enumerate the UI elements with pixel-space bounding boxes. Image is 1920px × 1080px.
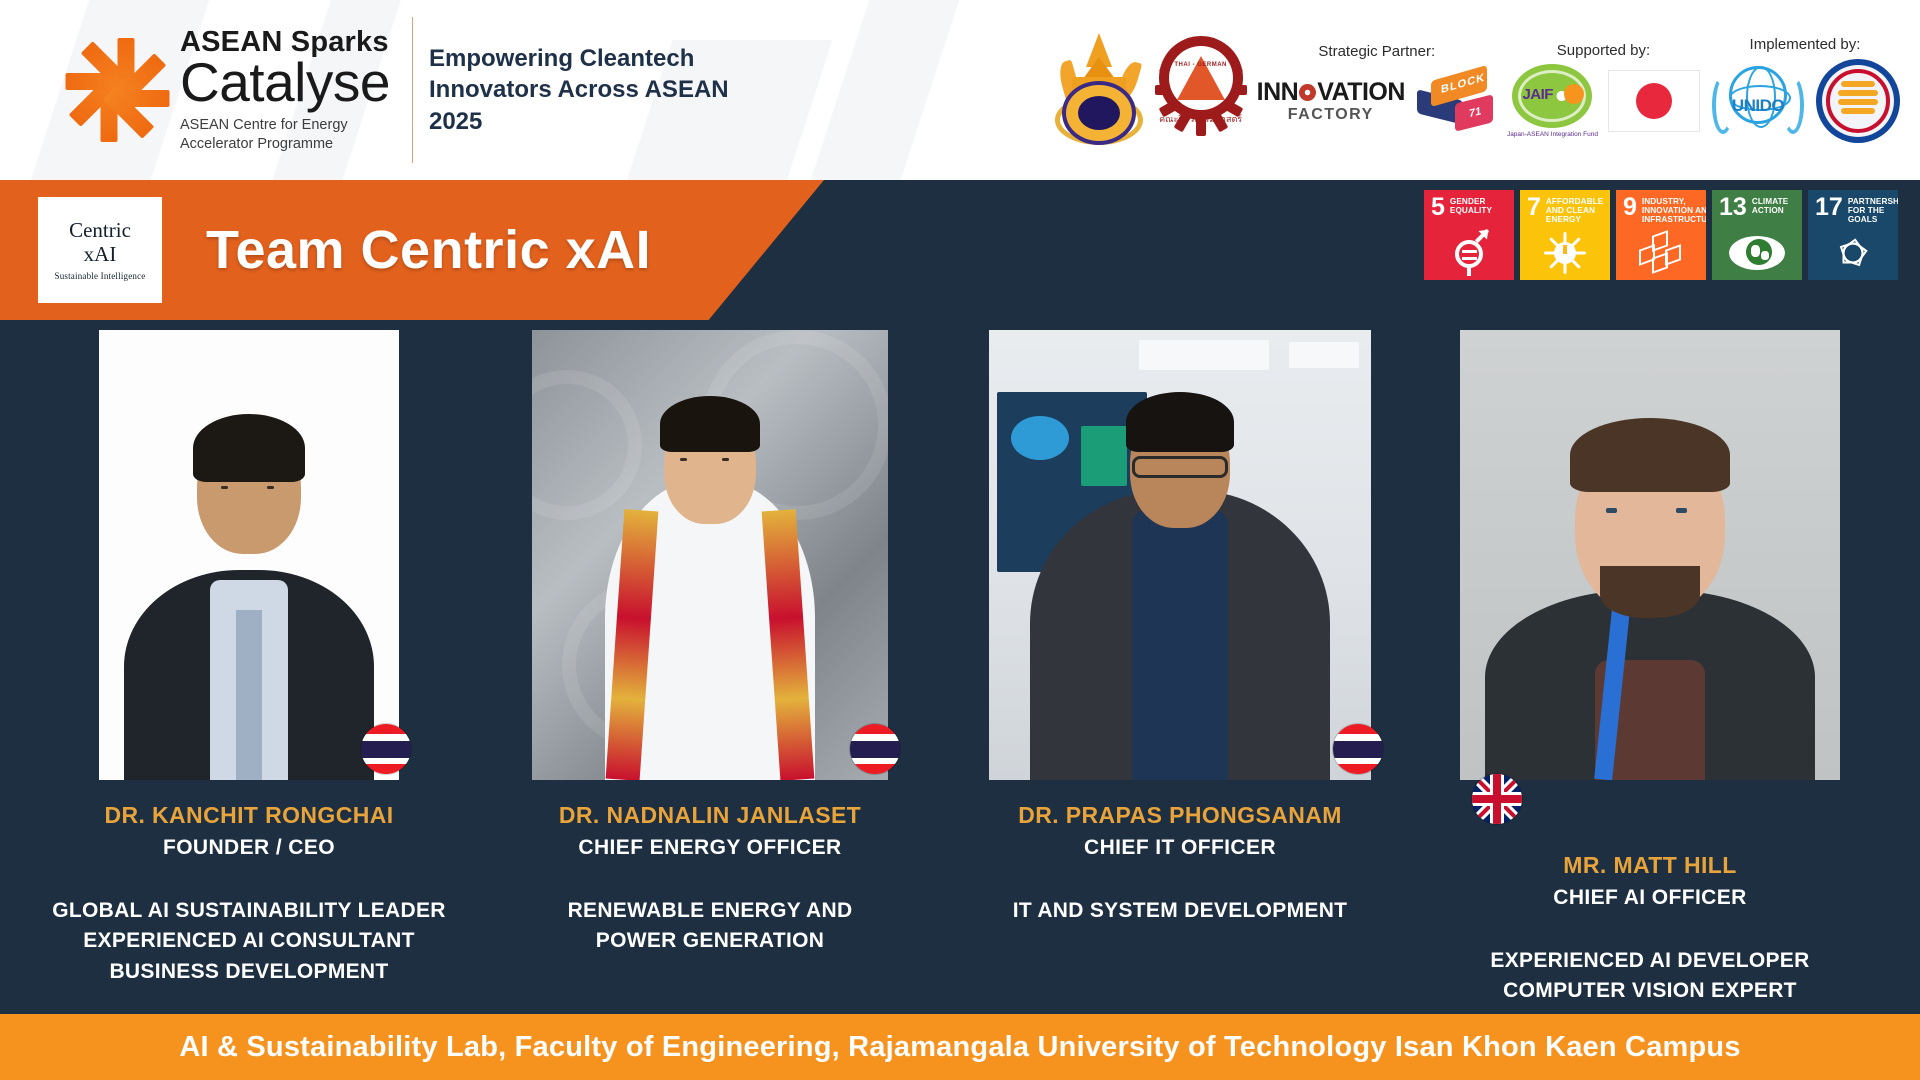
member-photo (99, 330, 399, 780)
team-member-card: DR. PRAPAS PHONGSANAM CHIEF IT OFFICER I… (960, 330, 1400, 926)
member-description: IT AND SYSTEM DEVELOPMENT (1013, 896, 1348, 926)
sdg-17-number: 17 (1815, 197, 1843, 218)
supported-by-group: Supported by: JAIF Japan-ASEAN Integrati… (1507, 42, 1700, 138)
jaif-name-text: JAIF (1522, 86, 1553, 103)
tagline-line2: Innovators Across ASEAN (429, 74, 759, 105)
sdg-badge-7: 7 AFFORDABLE AND CLEAN ENERGY (1520, 190, 1610, 280)
footer-bar: AI & Sustainability Lab, Faculty of Engi… (0, 1014, 1920, 1080)
unido-logo-icon: UNIDO (1710, 58, 1806, 144)
sdg-9-label: INDUSTRY, INNOVATION AND INFRASTRUCTURE (1642, 197, 1706, 225)
jaif-logo: JAIF Japan-ASEAN Integration Fund (1507, 64, 1598, 138)
sdg-17-label: PARTNERSHIPS FOR THE GOALS (1848, 197, 1898, 225)
implemented-by-group: Implemented by: UNIDO (1710, 36, 1900, 144)
asean-sparks-mark-icon (50, 30, 168, 150)
sdg-badge-9: 9 INDUSTRY, INNOVATION AND INFRASTRUCTUR… (1616, 190, 1706, 280)
member-role: CHIEF ENERGY OFFICER (578, 836, 841, 860)
brand-catalyse-text: Catalyse (180, 56, 390, 110)
block71-bottom-text: 71 (1469, 105, 1481, 120)
team-title-band: Centric xAI Sustainable Intelligence Tea… (0, 180, 824, 320)
member-name: MR. MATT HILL (1563, 852, 1736, 879)
strategic-partner-caption: Strategic Partner: (1318, 43, 1435, 60)
innovation-factory-text-a: INN (1257, 78, 1299, 107)
innovation-factory-dot-icon (1299, 84, 1316, 101)
member-photo (532, 330, 888, 780)
footer-text: AI & Sustainability Lab, Faculty of Engi… (179, 1031, 1740, 1064)
slide-root: ASEAN Sparks Catalyse ASEAN Centre for E… (0, 0, 1920, 1080)
industry-cubes-icon (1616, 230, 1706, 276)
block71-logo-icon: BLOCK 71 (1415, 65, 1497, 137)
block71-top-text: BLOCK (1441, 72, 1485, 97)
header-bar: ASEAN Sparks Catalyse ASEAN Centre for E… (0, 0, 1920, 180)
header-divider (412, 17, 413, 163)
sdg-badge-17: 17 PARTNERSHIPS FOR THE GOALS (1808, 190, 1898, 280)
jaif-sun-icon (1564, 84, 1584, 104)
brand-sub-line1: ASEAN Centre for Energy (180, 116, 390, 134)
member-name: DR. KANCHIT RONGCHAI (104, 802, 393, 829)
rmuti-emblem-icon (1053, 31, 1145, 149)
thai-german-top-text: THAI - GERMAN (1174, 62, 1227, 68)
sdg-5-number: 5 (1431, 197, 1445, 218)
sdg-badge-13: 13 CLIMATE ACTION (1712, 190, 1802, 280)
strategic-partner-group: Strategic Partner: INN VATION FACTORY (1257, 43, 1497, 137)
member-name: DR. NADNALIN JANLASET (559, 802, 861, 829)
centric-logo-line1: Centric (69, 219, 131, 241)
member-name: DR. PRAPAS PHONGSANAM (1018, 802, 1342, 829)
sdg-13-number: 13 (1719, 197, 1747, 218)
flag-badge-thailand (1333, 724, 1383, 774)
centric-logo-tagline: Sustainable Intelligence (54, 271, 145, 281)
sdg-13-label: CLIMATE ACTION (1752, 197, 1795, 215)
member-description: GLOBAL AI SUSTAINABILITY LEADER EXPERIEN… (52, 896, 446, 987)
sdg-badge-row: 5 GENDER EQUALITY 7 AFFORDABLE AND CLEAN… (1424, 190, 1898, 280)
sdg-9-number: 9 (1623, 197, 1637, 218)
member-description: EXPERIENCED AI DEVELOPER COMPUTER VISION… (1490, 946, 1809, 1007)
innovation-factory-logo: INN VATION FACTORY (1257, 78, 1405, 124)
jaif-subtitle: Japan-ASEAN Integration Fund (1507, 131, 1598, 138)
member-photo (989, 330, 1371, 780)
team-member-card: DR. KANCHIT RONGCHAI FOUNDER / CEO GLOBA… (24, 330, 474, 987)
member-role: FOUNDER / CEO (163, 836, 335, 860)
sdg-5-label: GENDER EQUALITY (1450, 197, 1507, 215)
brand-sub-line2: Accelerator Programme (180, 135, 390, 153)
header-tagline: Empowering Cleantech Innovators Across A… (429, 43, 759, 137)
centric-xai-logo-card: Centric xAI Sustainable Intelligence (38, 197, 162, 303)
team-member-card: DR. NADNALIN JANLASET CHIEF ENERGY OFFIC… (500, 330, 920, 957)
flag-badge-united-kingdom (1472, 774, 1522, 824)
innovation-factory-subtext: FACTORY (1288, 106, 1374, 124)
tagline-line1: Empowering Cleantech (429, 43, 759, 74)
member-role: CHIEF IT OFFICER (1084, 836, 1276, 860)
sdg-7-number: 7 (1527, 197, 1541, 218)
unido-name-text: UNIDO (1732, 96, 1784, 116)
sdg-7-label: AFFORDABLE AND CLEAN ENERGY (1546, 197, 1603, 225)
thai-german-bottom-text: คณะวิศวกรรมศาสตร์ (1159, 112, 1242, 126)
team-member-card: MR. MATT HILL CHIEF AI OFFICER EXPERIENC… (1430, 330, 1870, 1007)
supported-by-caption: Supported by: (1557, 42, 1650, 59)
gender-equality-icon (1424, 230, 1514, 276)
sdg-badge-5: 5 GENDER EQUALITY (1424, 190, 1514, 280)
centric-logo-line2: xAI (84, 243, 117, 265)
page-title: Team Centric xAI (206, 219, 651, 281)
flag-badge-thailand (850, 724, 900, 774)
catalyse-brand-logo: ASEAN Sparks Catalyse ASEAN Centre for E… (14, 27, 390, 153)
implemented-by-caption: Implemented by: (1750, 36, 1861, 53)
thai-german-faculty-emblem-icon: THAI - GERMAN คณะวิศวกรรมศาสตร์ (1155, 34, 1247, 146)
clean-energy-sun-icon (1520, 230, 1610, 276)
asean-centre-for-energy-logo-icon (1816, 59, 1900, 143)
flag-badge-thailand (361, 724, 411, 774)
tagline-line3: 2025 (429, 106, 759, 137)
member-photo (1460, 330, 1840, 780)
member-description: RENEWABLE ENERGY AND POWER GENERATION (568, 896, 853, 957)
japan-flag-icon (1608, 70, 1700, 132)
partnerships-circles-icon (1808, 230, 1898, 276)
innovation-factory-text-b: VATION (1317, 78, 1405, 107)
member-role: CHIEF AI OFFICER (1553, 886, 1746, 910)
team-member-grid: DR. KANCHIT RONGCHAI FOUNDER / CEO GLOBA… (0, 322, 1920, 1010)
climate-eye-globe-icon (1712, 230, 1802, 276)
